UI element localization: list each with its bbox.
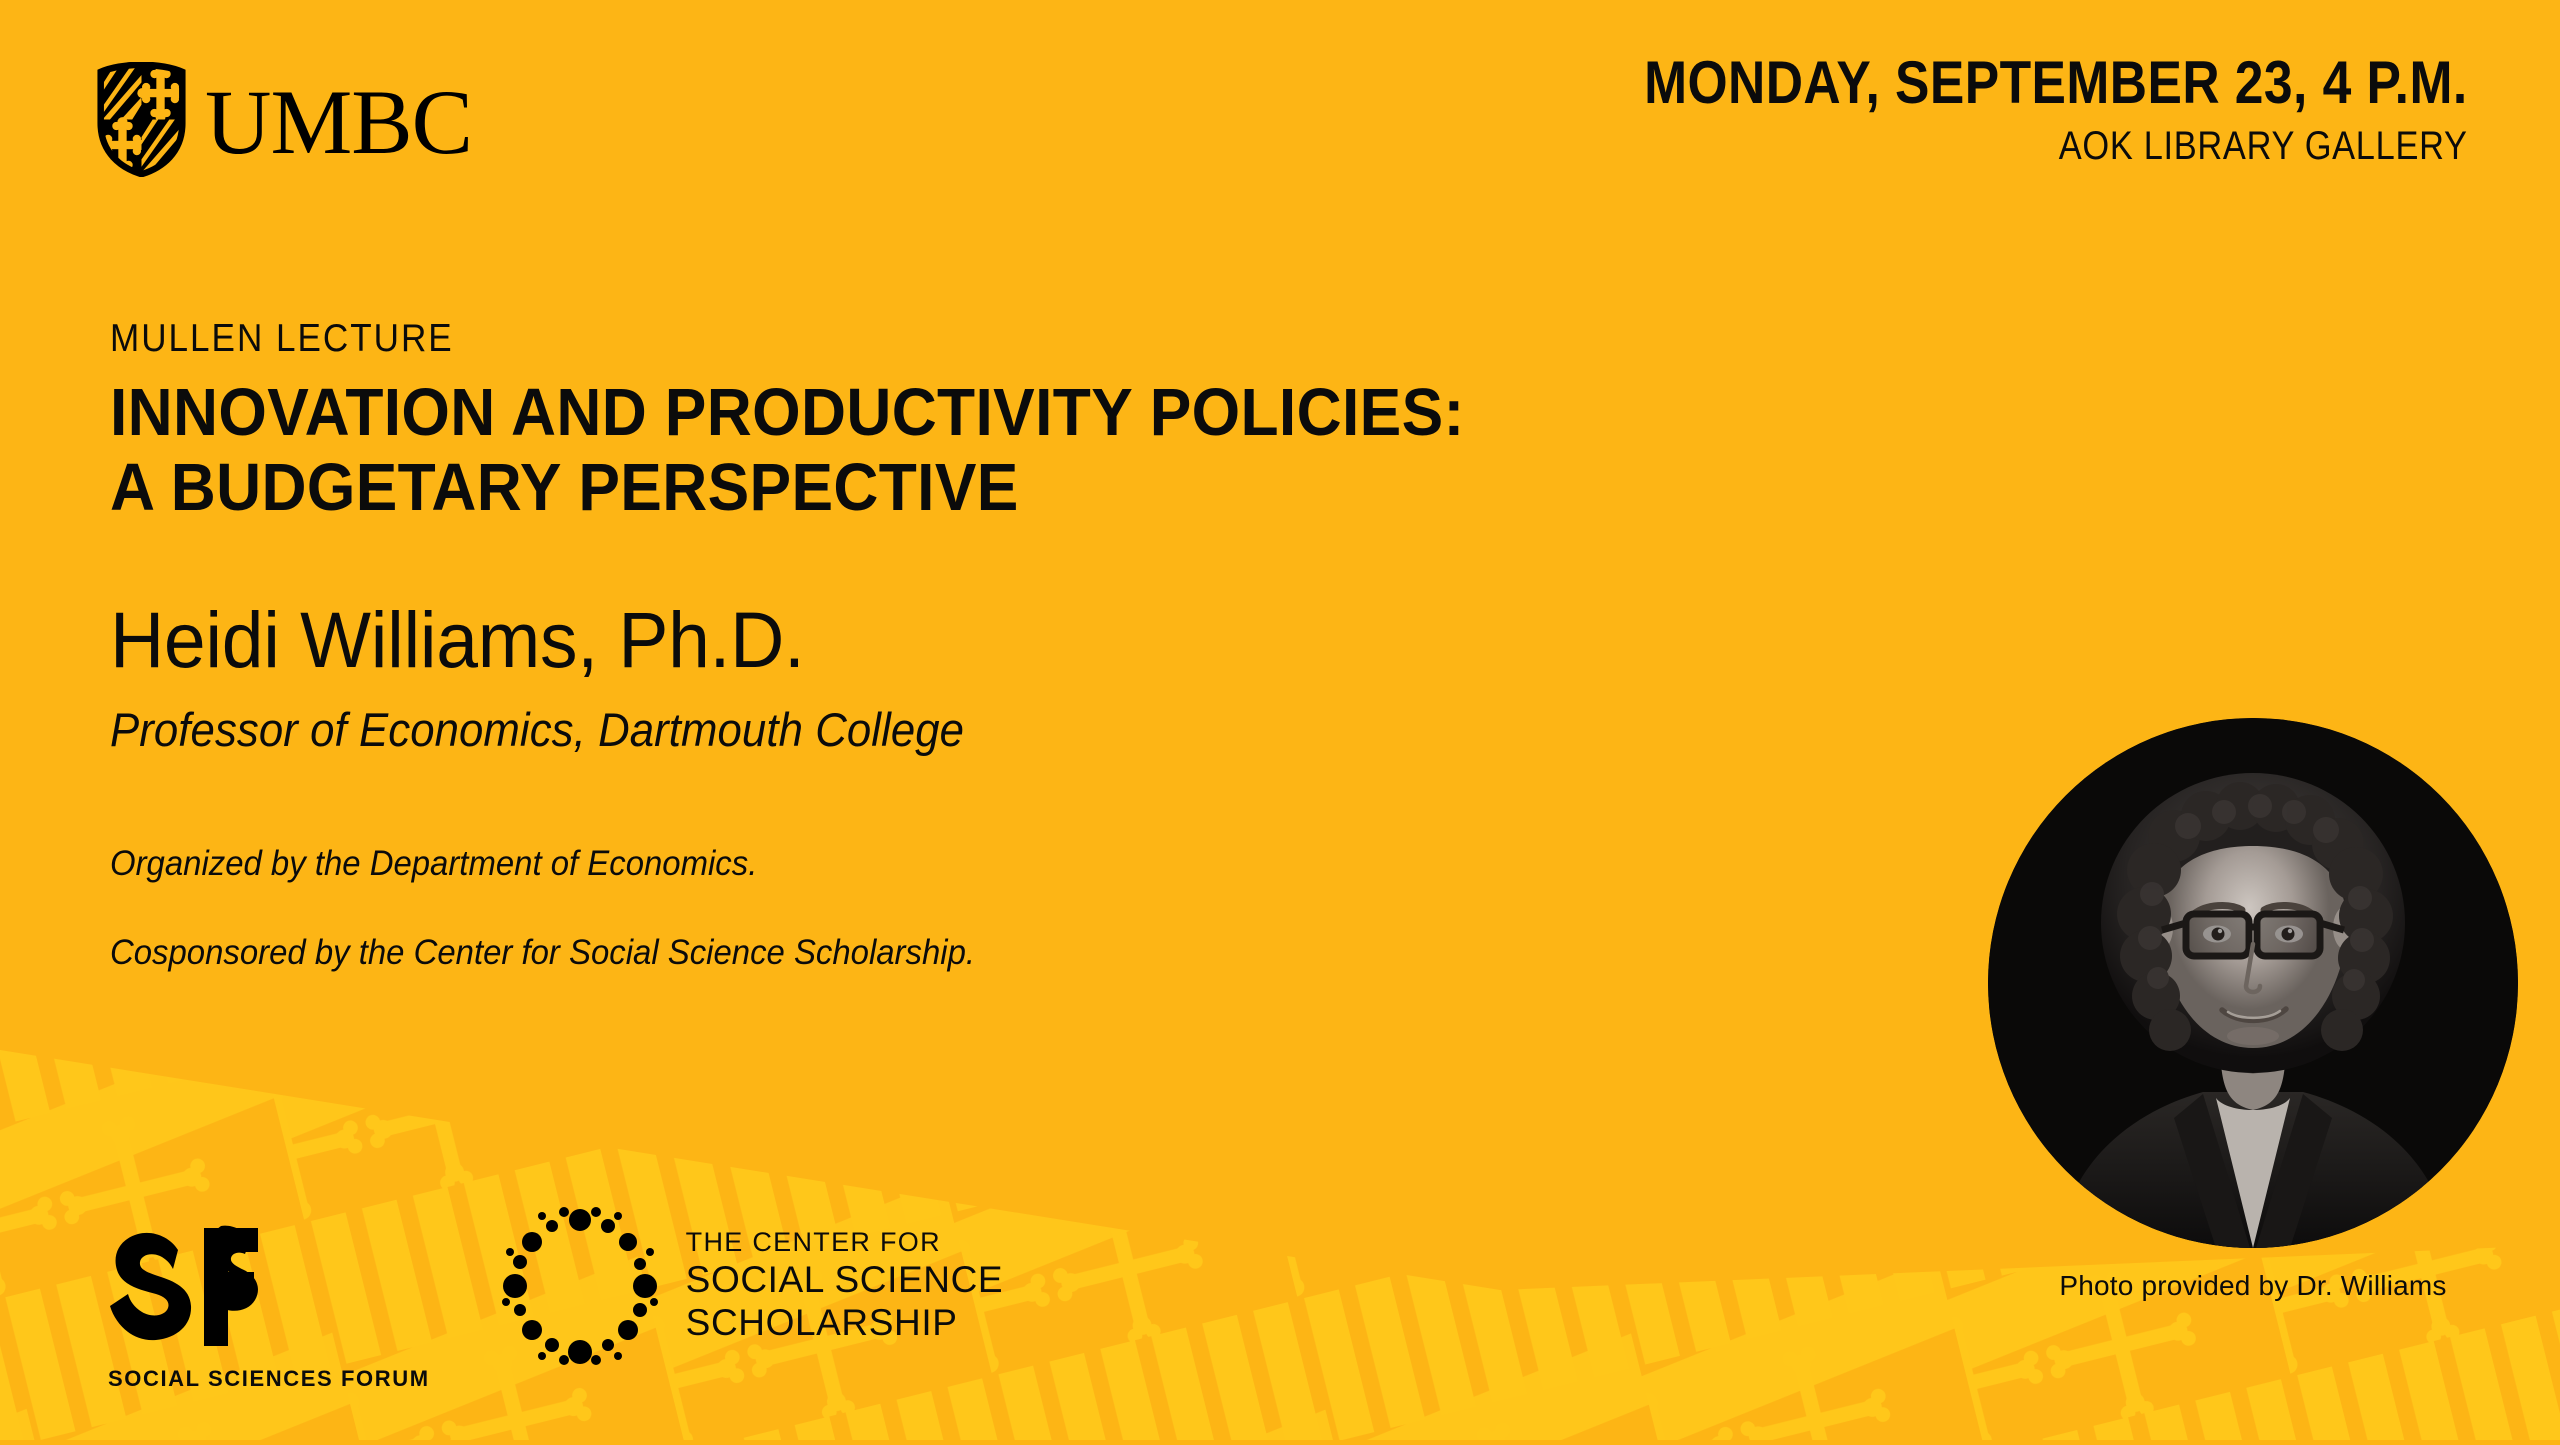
event-datetime: MONDAY, SEPTEMBER 23, 4 P.M. xyxy=(1644,52,2468,113)
ssf-caption: SOCIAL SCIENCES FORUM xyxy=(108,1366,430,1392)
maryland-shield-icon xyxy=(95,62,188,177)
footer-logos: SOCIAL SCIENCES FORUM xyxy=(108,1222,1003,1392)
event-location: AOK LIBRARY GALLERY xyxy=(1644,123,2468,169)
social-sciences-forum-logo: SOCIAL SCIENCES FORUM xyxy=(108,1222,430,1392)
ssf-mark-icon xyxy=(108,1222,326,1352)
page-title: INNOVATION AND PRODUCTIVITY POLICIES: A … xyxy=(110,375,1877,525)
sponsor-line-cosponsor: Cosponsored by the Center for Social Sci… xyxy=(110,931,1896,975)
umbc-wordmark: UMBC xyxy=(205,83,472,162)
event-datetime-block: MONDAY, SEPTEMBER 23, 4 P.M. AOK LIBRARY… xyxy=(1510,52,2468,169)
main-content: MULLEN LECTURE INNOVATION AND PRODUCTIVI… xyxy=(110,318,2010,975)
umbc-logo: UMBC xyxy=(95,62,472,177)
speaker-affiliation: Professor of Economics, Dartmouth Colleg… xyxy=(110,702,1877,758)
photo-credit: Photo provided by Dr. Williams xyxy=(1988,1270,2518,1302)
speaker-portrait xyxy=(1988,718,2518,1248)
center-line-2: SOCIAL SCIENCE xyxy=(686,1259,1004,1302)
center-logo-text: THE CENTER FOR SOCIAL SCIENCE SCHOLARSHI… xyxy=(686,1227,1004,1344)
speaker-name: Heidi Williams, Ph.D. xyxy=(110,599,1915,682)
center-line-1: THE CENTER FOR xyxy=(686,1227,1004,1258)
title-line-1: INNOVATION AND PRODUCTIVITY POLICIES: xyxy=(110,375,1877,450)
sponsor-block: Organized by the Department of Economics… xyxy=(110,842,2010,975)
title-line-2: A BUDGETARY PERSPECTIVE xyxy=(110,450,1877,525)
portrait-circle-mask xyxy=(1988,718,2518,1248)
lecture-series-label: MULLEN LECTURE xyxy=(110,318,1820,361)
dot-ring-icon xyxy=(500,1206,660,1366)
portrait-image xyxy=(1988,718,2518,1248)
center-social-science-scholarship-logo: THE CENTER FOR SOCIAL SCIENCE SCHOLARSHI… xyxy=(500,1206,1004,1366)
sponsor-line-organizer: Organized by the Department of Economics… xyxy=(110,842,1896,886)
center-line-3: SCHOLARSHIP xyxy=(686,1302,1004,1345)
